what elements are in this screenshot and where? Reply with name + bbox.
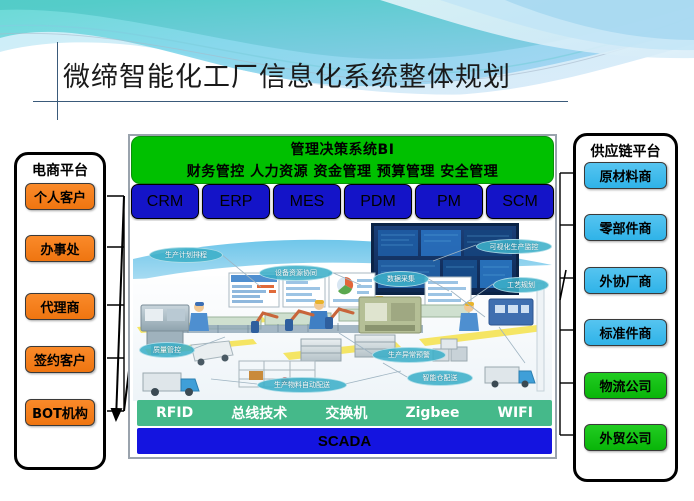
network-item-bus: 总线技术 (231, 403, 287, 423)
system-button-pm-label: PM (437, 193, 461, 211)
right-chip-0-label: 原材料商 (599, 166, 651, 185)
title-horizontal-rule (33, 101, 568, 102)
system-button-crm[interactable]: CRM (131, 184, 199, 219)
right-chip-1[interactable]: 零部件商 (584, 214, 667, 241)
left-chip-4-label: BOT机构 (32, 403, 88, 422)
slide-canvas: 微缔智能化工厂信息化系统整体规划 电商平台 个人客户 办事处 代理商 签约客户 (0, 0, 694, 501)
network-item-zigbee: Zigbee (405, 405, 459, 421)
system-button-crm-label: CRM (147, 193, 183, 211)
factory-callout-2: 数据采集 (373, 271, 429, 287)
network-item-switch: 交换机 (325, 403, 367, 423)
left-chip-2-label: 代理商 (40, 297, 79, 316)
factory-callout-4: 工艺规划 (493, 277, 549, 293)
system-button-mes[interactable]: MES (273, 184, 341, 219)
factory-callout-0: 生产计划排程 (149, 247, 223, 263)
factory-callout-4-label: 工艺规划 (507, 280, 535, 290)
scada-layer-row: SCADA (137, 428, 552, 454)
factory-callout-5: 质量管控 (139, 342, 195, 358)
smart-factory-illustration: 生产计划排程 设备资源协同 数据采集 可视化生产监控 工艺规划 质量管控 生产异… (133, 221, 552, 401)
left-platform-panel: 电商平台 个人客户 办事处 代理商 签约客户 BOT机构 (14, 152, 106, 470)
factory-callout-0-label: 生产计划排程 (165, 250, 207, 260)
network-layer-row: RFID 总线技术 交换机 Zigbee WIFI (137, 400, 552, 426)
left-chip-3-label: 签约客户 (34, 350, 86, 369)
factory-callout-7-label: 智能仓配送 (423, 373, 458, 383)
left-platform-title: 电商平台 (17, 160, 103, 180)
right-chip-4-label: 物流公司 (599, 376, 651, 395)
factory-callout-2-label: 数据采集 (387, 274, 415, 284)
left-chip-0-label: 个人客户 (34, 187, 86, 206)
right-chip-0[interactable]: 原材料商 (584, 162, 667, 189)
network-item-rfid: RFID (156, 405, 193, 421)
right-platform-panel: 供应链平台 原材料商 零部件商 外协厂商 标准件商 物流公司 外贸公司 (573, 133, 678, 482)
page-title: 微缔智能化工厂信息化系统整体规划 (63, 57, 623, 99)
left-chip-4[interactable]: BOT机构 (25, 399, 95, 426)
bi-subtitle: 财务管控 人力资源 资金管理 预算管理 安全管理 (187, 161, 499, 181)
factory-callout-1: 设备资源协同 (259, 265, 333, 281)
bi-title: 管理决策系统BI (291, 139, 395, 159)
factory-callout-3: 可视化生产监控 (476, 239, 552, 254)
system-button-scm-label: SCM (502, 193, 538, 211)
system-button-pdm-label: PDM (360, 193, 396, 211)
right-chip-2[interactable]: 外协厂商 (584, 267, 667, 294)
factory-callout-8: 生产物料自动配送 (257, 377, 347, 393)
right-chip-5[interactable]: 外贸公司 (584, 424, 667, 451)
factory-callout-6-label: 生产异常预警 (388, 350, 430, 360)
right-platform-title: 供应链平台 (576, 141, 675, 161)
factory-callout-1-label: 设备资源协同 (275, 268, 317, 278)
right-chip-4[interactable]: 物流公司 (584, 372, 667, 399)
system-button-scm[interactable]: SCM (486, 184, 554, 219)
system-button-erp-label: ERP (220, 193, 253, 211)
left-chip-1-label: 办事处 (40, 239, 79, 258)
system-button-mes-label: MES (290, 193, 325, 211)
bi-decision-block: 管理决策系统BI 财务管控 人力资源 资金管理 预算管理 安全管理 (131, 136, 554, 184)
right-chip-1-label: 零部件商 (599, 218, 651, 237)
right-chip-3-label: 标准件商 (599, 323, 651, 342)
system-button-pm[interactable]: PM (415, 184, 483, 219)
factory-callout-6: 生产异常预警 (372, 347, 446, 363)
left-chip-3[interactable]: 签约客户 (25, 346, 95, 373)
left-chip-1[interactable]: 办事处 (25, 235, 95, 262)
factory-callout-8-label: 生产物料自动配送 (274, 380, 330, 390)
system-button-pdm[interactable]: PDM (344, 184, 412, 219)
system-button-erp[interactable]: ERP (202, 184, 270, 219)
left-chip-0[interactable]: 个人客户 (25, 183, 95, 210)
right-chip-2-label: 外协厂商 (599, 271, 651, 290)
title-vertical-rule (57, 42, 58, 120)
left-chip-2[interactable]: 代理商 (25, 293, 95, 320)
right-chip-5-label: 外贸公司 (599, 428, 651, 447)
scada-label: SCADA (318, 433, 371, 450)
factory-callout-7: 智能仓配送 (407, 370, 473, 386)
right-chip-3[interactable]: 标准件商 (584, 319, 667, 346)
system-buttons-row: CRM ERP MES PDM PM SCM (131, 184, 554, 219)
factory-callout-5-label: 质量管控 (153, 345, 181, 355)
factory-callout-3-label: 可视化生产监控 (490, 242, 539, 252)
network-item-wifi: WIFI (498, 405, 533, 421)
